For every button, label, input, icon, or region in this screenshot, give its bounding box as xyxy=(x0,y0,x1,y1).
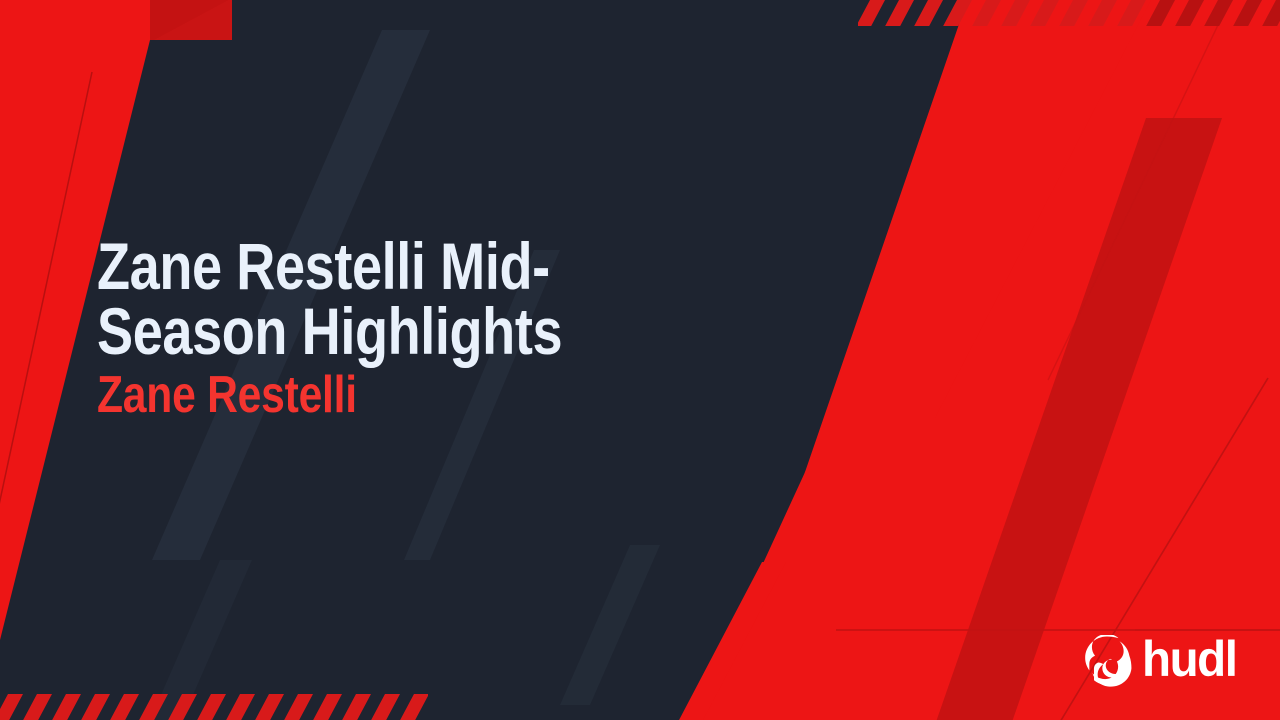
hudl-logo: hudl xyxy=(1081,634,1242,688)
title-block: Zane Restelli Mid-Season Highlights Zane… xyxy=(97,234,817,421)
headline: Zane Restelli Mid-Season Highlights xyxy=(97,234,687,363)
title-card: Zane Restelli Mid-Season Highlights Zane… xyxy=(0,0,1280,720)
hudl-rhino-mark-icon xyxy=(1081,635,1133,687)
subhead-athlete-name: Zane Restelli xyxy=(97,369,687,421)
hudl-wordmark: hudl xyxy=(1142,634,1237,688)
